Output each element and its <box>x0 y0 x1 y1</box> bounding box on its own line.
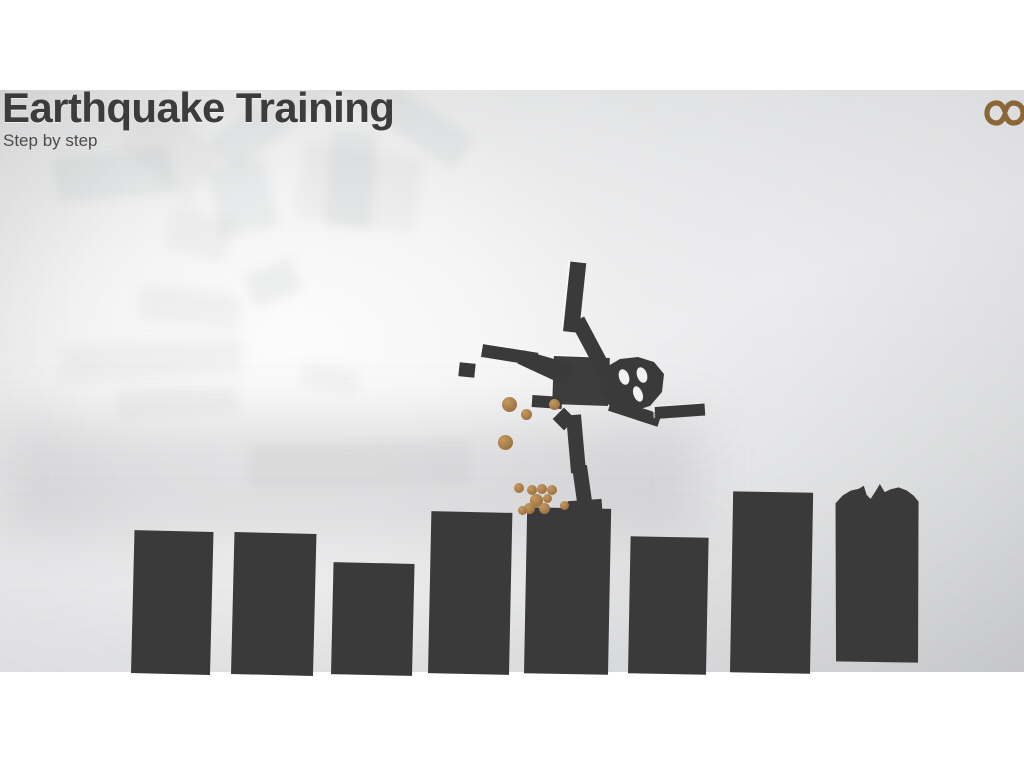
pillar-broken <box>830 481 925 664</box>
pillar <box>131 530 213 675</box>
coin[interactable] <box>543 494 552 503</box>
coin[interactable] <box>537 484 547 494</box>
coin[interactable] <box>518 506 527 515</box>
infinity-icon-glyph <box>984 98 1024 132</box>
background-ghost-shape <box>118 386 239 418</box>
coin[interactable] <box>502 397 517 412</box>
ragdoll-head-shape <box>596 356 668 418</box>
pillar <box>524 507 611 675</box>
infinity-icon[interactable] <box>984 98 1024 132</box>
coin[interactable] <box>549 399 560 410</box>
pillar-broken-shape <box>830 481 925 664</box>
background-ghost-shape <box>138 285 241 329</box>
pillar <box>428 511 512 675</box>
ragdoll-foot-right <box>568 499 603 514</box>
coin[interactable] <box>514 483 524 493</box>
coin[interactable] <box>498 435 513 450</box>
ragdoll-head <box>596 356 668 418</box>
background-ghost-shape <box>298 361 359 395</box>
pillar <box>628 536 709 674</box>
coin[interactable] <box>521 409 532 420</box>
game-screen: Earthquake Training Step by step <box>0 0 1024 768</box>
pillar <box>231 532 316 676</box>
background-ghost-shape <box>325 131 378 230</box>
coin[interactable] <box>560 501 569 510</box>
pillar <box>331 562 415 676</box>
background-ghost-shape <box>243 258 302 308</box>
ragdoll-hand-left <box>458 362 475 378</box>
background-ghost-shape <box>61 337 243 382</box>
coin[interactable] <box>539 503 550 514</box>
top-white-strip <box>0 0 1024 90</box>
pillar <box>730 491 813 673</box>
